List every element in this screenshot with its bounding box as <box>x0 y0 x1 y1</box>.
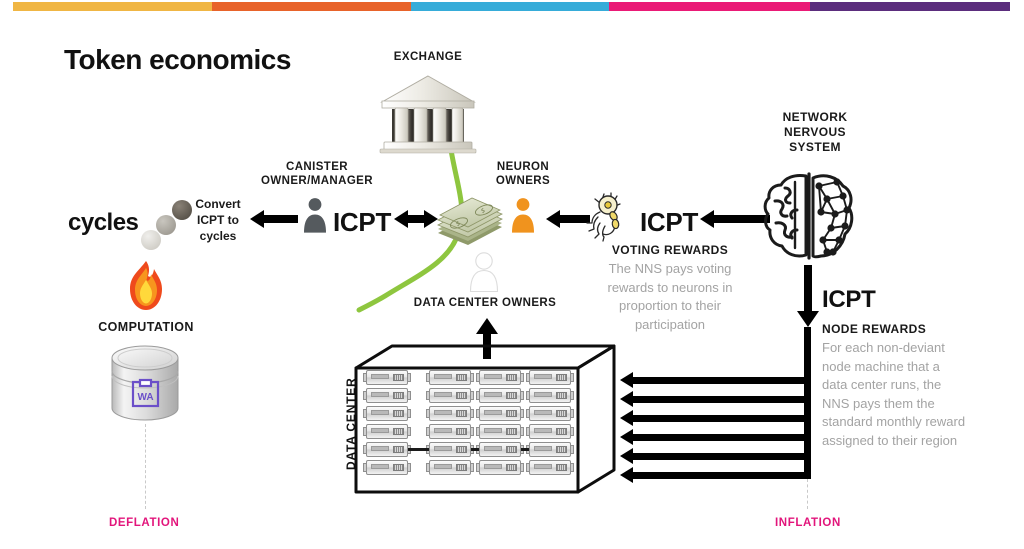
color-segment-orange <box>212 2 410 11</box>
neuron-owners-label: NEURON OWNERS <box>478 160 568 188</box>
arrow-shaft <box>632 453 810 460</box>
rack-interconnect <box>521 448 529 451</box>
arrow-head-left <box>620 448 633 464</box>
arrow-shaft <box>804 265 812 313</box>
arrow-head-left <box>620 429 633 445</box>
arrow-head-up <box>476 318 498 334</box>
wasm-logo-text: WA <box>137 392 153 403</box>
arrow-nns-to-neuron <box>700 210 770 228</box>
arrow-head-left <box>546 210 560 228</box>
coin-light <box>141 230 161 250</box>
arrow-node-reward-1 <box>620 373 810 389</box>
deflation-dashed-line <box>145 424 146 509</box>
diagram-canvas: Token economics EXCHANGE <box>0 0 1024 549</box>
icpt-voting-label: ICPT <box>640 207 698 238</box>
nns-label-line1: NETWORK <box>783 110 848 124</box>
canister-database-icon: WA <box>108 344 182 424</box>
arrow-head-left <box>700 210 714 228</box>
nns-label: NETWORK NERVOUS SYSTEM <box>760 110 870 155</box>
neuron-owners-label-line1: NEURON <box>497 161 549 173</box>
money-stack-icon: $ $ <box>434 193 506 249</box>
server-unit <box>479 442 521 457</box>
node-rewards-heading: NODE REWARDS <box>822 322 962 336</box>
arrow-node-reward-5 <box>620 449 810 465</box>
arrow-shaft <box>406 215 426 223</box>
arrow-shaft <box>632 396 810 403</box>
color-segment-yellow <box>13 2 212 11</box>
nns-label-line2: NERVOUS <box>784 125 846 139</box>
server-unit <box>529 388 571 403</box>
arrow-head-left <box>620 410 633 426</box>
person-orange-icon <box>508 194 538 236</box>
voting-rewards-body: The NNS pays voting rewards to neurons i… <box>584 260 756 334</box>
server-unit <box>479 388 521 403</box>
rack-interconnect <box>408 448 429 451</box>
canister-owner-label-line2: OWNER/MANAGER <box>261 175 373 187</box>
exchange-label: EXCHANGE <box>373 50 483 64</box>
server-unit <box>429 406 471 421</box>
arrow-node-reward-2 <box>620 392 810 408</box>
arrow-node-reward-4 <box>620 430 810 446</box>
color-segment-blue <box>411 2 609 11</box>
bank-icon <box>378 72 478 154</box>
neuron-owners-label-line2: OWNERS <box>496 175 550 187</box>
convert-label-line3: cycles <box>200 229 237 243</box>
arrow-nns-to-nodes-vertical <box>797 265 819 327</box>
arrow-shaft <box>632 434 810 441</box>
server-unit <box>529 406 571 421</box>
server-unit <box>366 460 408 475</box>
computation-label: COMPUTATION <box>86 320 206 334</box>
nns-label-line3: SYSTEM <box>789 140 841 154</box>
rack-interconnect <box>471 448 479 451</box>
inflation-dashed-line <box>807 479 808 509</box>
person-outline-icon <box>468 250 500 294</box>
canister-owner-label: CANISTER OWNER/MANAGER <box>246 160 388 188</box>
arrow-neuron-to-money <box>546 210 590 228</box>
arrow-node-reward-6 <box>620 468 810 484</box>
voting-rewards-heading: VOTING REWARDS <box>590 243 750 257</box>
color-segment-pink <box>609 2 809 11</box>
server-unit <box>529 424 571 439</box>
arrow-head-left <box>620 372 633 388</box>
top-color-bar <box>13 2 1010 11</box>
server-unit <box>529 370 571 385</box>
arrow-shaft <box>632 415 810 422</box>
arrow-head-left <box>620 467 633 483</box>
server-unit <box>529 442 571 457</box>
server-unit <box>479 370 521 385</box>
server-unit <box>366 406 408 421</box>
convert-icpt-label: Convert ICPT to cycles <box>182 196 254 244</box>
inflation-label: INFLATION <box>775 517 841 529</box>
deflation-label: DEFLATION <box>109 517 179 529</box>
server-unit <box>366 388 408 403</box>
brain-network-icon <box>761 168 857 268</box>
arrow-shaft <box>632 472 810 479</box>
icpt-node-label: ICPT <box>822 286 875 314</box>
server-unit <box>479 406 521 421</box>
server-unit <box>429 460 471 475</box>
arrow-shaft <box>632 377 810 384</box>
convert-label-line1: Convert <box>195 197 240 211</box>
server-unit <box>366 370 408 385</box>
server-unit <box>429 442 471 457</box>
server-unit <box>479 460 521 475</box>
server-unit <box>529 460 571 475</box>
page-title: Token economics <box>64 44 291 76</box>
neuron-icon <box>586 190 630 242</box>
icpt-exchange-label: ICPT <box>333 207 391 238</box>
server-unit <box>429 424 471 439</box>
server-unit <box>429 388 471 403</box>
arrow-head-left <box>394 210 408 228</box>
server-unit <box>366 442 408 457</box>
server-unit <box>479 424 521 439</box>
arrow-icpt-money-bidirectional <box>394 210 438 228</box>
coin-mid <box>156 215 176 235</box>
canister-owner-label-line1: CANISTER <box>286 161 348 173</box>
arrow-head-down <box>797 311 819 327</box>
person-dark-icon <box>300 194 330 236</box>
arrow-icpt-to-convert <box>250 210 298 228</box>
node-rewards-body: For each non-deviant node machine that a… <box>822 339 968 450</box>
server-grid <box>366 370 562 488</box>
data-center-owners-label: DATA CENTER OWNERS <box>394 296 576 310</box>
arrow-node-reward-3 <box>620 411 810 427</box>
arrow-shaft <box>264 215 298 223</box>
server-unit <box>429 370 471 385</box>
cycles-label: cycles <box>68 209 138 237</box>
arrow-head-left <box>620 391 633 407</box>
convert-label-line2: ICPT to <box>197 213 239 227</box>
fire-icon <box>124 260 168 312</box>
color-segment-purple <box>810 2 1010 11</box>
server-unit <box>366 424 408 439</box>
